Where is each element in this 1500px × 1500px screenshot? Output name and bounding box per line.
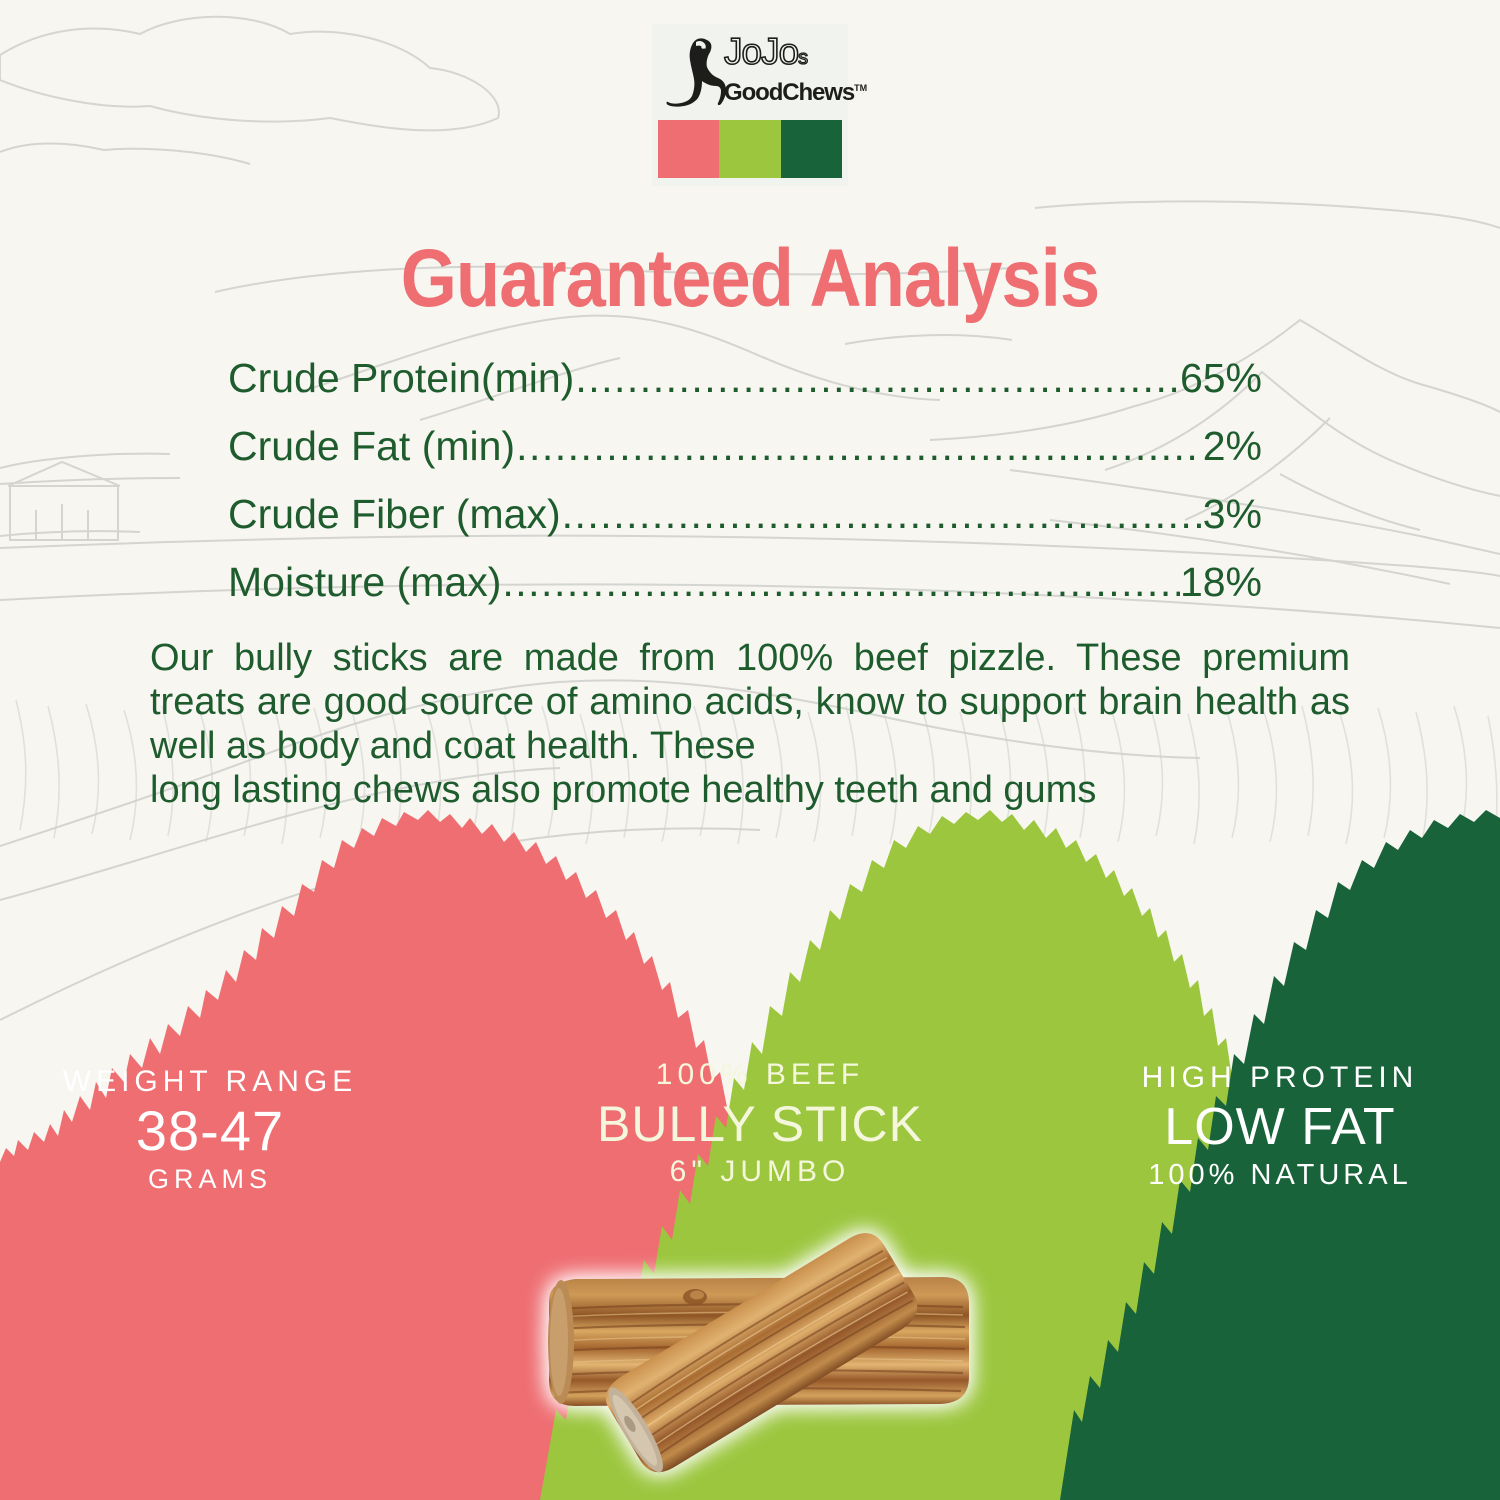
analysis-value: 2% bbox=[1203, 412, 1262, 480]
page-title: Guaranteed Analysis bbox=[90, 232, 1410, 326]
logo-bar-coral bbox=[658, 120, 719, 178]
analysis-label: Moisture (max) bbox=[228, 548, 501, 616]
analysis-leader-dots: ........................................… bbox=[502, 548, 1180, 616]
logo-wordmark-area: JoJos GoodChewsTM bbox=[652, 24, 848, 120]
badge-line-1: WEIGHT RANGE bbox=[0, 1062, 420, 1102]
analysis-label: Crude Fat (min) bbox=[228, 412, 515, 480]
product-description: Our bully sticks are made from 100% beef… bbox=[150, 636, 1350, 812]
badge-line-2: BULLY STICK bbox=[520, 1095, 1000, 1153]
analysis-row: Crude Fiber (max) ......................… bbox=[228, 480, 1262, 548]
analysis-row: Crude Protein(min) .....................… bbox=[228, 344, 1262, 412]
logo-bar-lime bbox=[719, 120, 780, 178]
badge-weight-range: WEIGHT RANGE 38-47 GRAMS bbox=[0, 1062, 420, 1198]
description-last-line: long lasting chews also promote healthy … bbox=[150, 768, 1350, 812]
description-body: Our bully sticks are made from 100% beef… bbox=[150, 637, 1350, 767]
analysis-value: 65% bbox=[1180, 344, 1262, 412]
analysis-label: Crude Fiber (max) bbox=[228, 480, 561, 548]
analysis-row: Crude Fat (min) ........................… bbox=[228, 412, 1262, 480]
logo-text: JoJos GoodChewsTM bbox=[724, 32, 844, 116]
analysis-value: 18% bbox=[1180, 548, 1262, 616]
analysis-leader-dots: ........................................… bbox=[562, 480, 1203, 548]
badge-line-3: GRAMS bbox=[0, 1160, 420, 1198]
guaranteed-analysis-list: Crude Protein(min) .....................… bbox=[228, 344, 1262, 616]
analysis-leader-dots: ........................................… bbox=[516, 412, 1203, 480]
badge-high-protein-low-fat: HIGH PROTEIN LOW FAT 100% NATURAL bbox=[1060, 1058, 1500, 1194]
bully-sticks-photo bbox=[525, 1205, 995, 1500]
analysis-row: Moisture (max) .........................… bbox=[228, 548, 1262, 616]
infographic-canvas: JoJos GoodChewsTM Guaranteed Analysis Cr… bbox=[0, 0, 1500, 1500]
logo-jojos-text: JoJos bbox=[724, 32, 844, 78]
logo-goodchews-text: GoodChewsTM bbox=[724, 75, 844, 106]
logo-bar-dark-green bbox=[781, 120, 842, 178]
badge-line-3: 6" JUMBO bbox=[520, 1153, 1000, 1191]
badge-line-2: 38-47 bbox=[0, 1102, 420, 1160]
analysis-leader-dots: ........................................… bbox=[575, 344, 1180, 412]
logo-color-bars bbox=[658, 120, 842, 178]
badge-line-1: 100% BEEF bbox=[520, 1055, 1000, 1095]
badge-beef-bully-stick: 100% BEEF BULLY STICK 6" JUMBO bbox=[520, 1055, 1000, 1191]
badge-line-2: LOW FAT bbox=[1060, 1098, 1500, 1156]
badge-line-3: 100% NATURAL bbox=[1060, 1156, 1500, 1194]
analysis-label: Crude Protein(min) bbox=[228, 344, 574, 412]
brand-logo: JoJos GoodChewsTM bbox=[652, 24, 848, 186]
badge-line-1: HIGH PROTEIN bbox=[1060, 1058, 1500, 1098]
dog-silhouette-icon bbox=[666, 36, 728, 110]
analysis-value: 3% bbox=[1203, 480, 1262, 548]
